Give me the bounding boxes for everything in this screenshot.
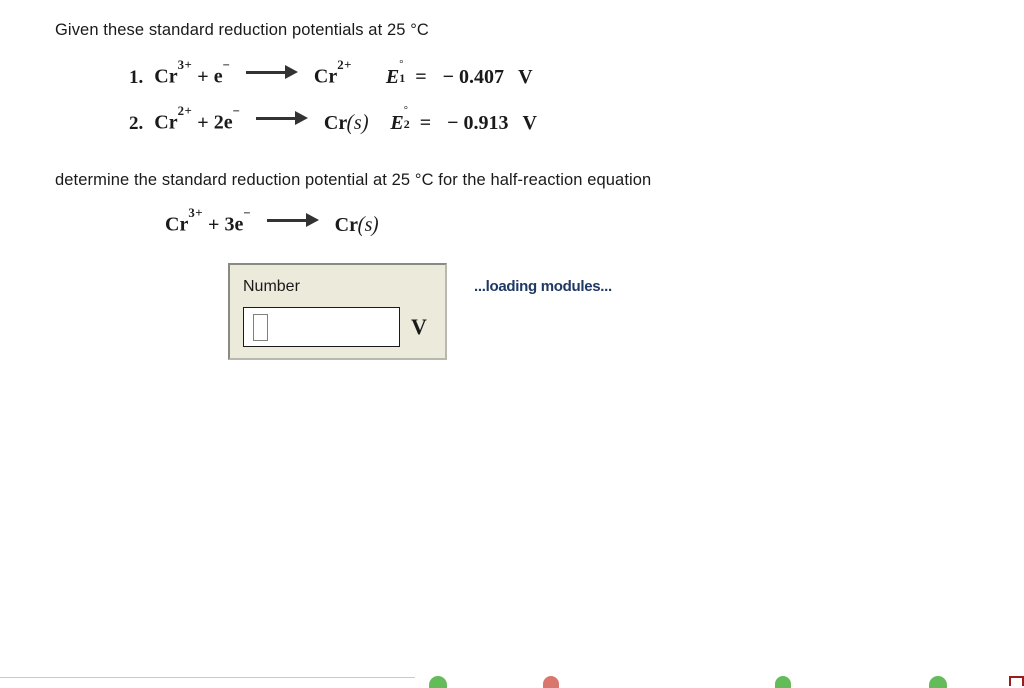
red-outline-icon[interactable]	[1009, 676, 1024, 686]
potential-index: 1	[399, 71, 405, 86]
degree-superscript: °	[399, 59, 403, 70]
product-species: Cr(s)	[335, 214, 379, 237]
potential-unit: V	[523, 112, 537, 135]
intro-text: Given these standard reduction potential…	[55, 21, 429, 40]
electron-term: 2e−	[214, 110, 240, 135]
reactant-symbol: Cr	[154, 66, 177, 88]
product-charge: 2+	[337, 58, 352, 72]
determine-text: determine the standard reduction potenti…	[55, 171, 651, 190]
product-species: Cr(s)	[324, 112, 368, 135]
reactant-symbol: Cr	[154, 112, 177, 134]
math-entry-cursor-box[interactable]	[253, 314, 268, 341]
electron-count: 3e	[224, 214, 243, 236]
product-symbol: Cr	[324, 112, 347, 134]
right-arrow-icon	[246, 65, 298, 79]
answer-number-input[interactable]	[243, 307, 400, 347]
reactant-charge: 3+	[188, 206, 203, 220]
reactant-species: Cr3+	[154, 64, 192, 89]
plus-operator: +	[208, 214, 219, 237]
red-marker-icon[interactable]	[543, 676, 559, 688]
potential-symbol: E°1	[386, 66, 399, 89]
reduction-equation-1: 1. Cr3+ + e− Cr2+ E°1 = − 0.407 V	[129, 64, 533, 89]
plus-operator: +	[197, 112, 208, 135]
answer-unit-label: V	[411, 314, 427, 340]
product-symbol: Cr	[335, 214, 358, 236]
plus-operator: +	[197, 66, 208, 89]
green-marker-icon[interactable]	[775, 676, 791, 688]
potential-letter: E	[386, 66, 399, 88]
reactant-charge: 3+	[178, 58, 193, 72]
answer-panel: Number V	[228, 263, 447, 360]
degree-superscript: °	[404, 105, 408, 116]
potential-value: − 0.913	[447, 112, 508, 135]
green-marker-icon[interactable]	[929, 676, 947, 688]
potential-unit: V	[518, 66, 532, 89]
electron-charge: −	[243, 206, 250, 220]
electron-charge: −	[233, 104, 240, 118]
equation-number: 1.	[129, 67, 143, 89]
equation-number: 2.	[129, 113, 143, 135]
right-arrow-icon	[256, 111, 308, 125]
electron-count: 2e	[214, 112, 233, 134]
potential-equals: =	[415, 66, 426, 89]
reactant-symbol: Cr	[165, 214, 188, 236]
target-half-reaction: Cr3+ + 3e− Cr(s)	[165, 212, 379, 237]
right-arrow-icon	[267, 213, 319, 227]
reduction-equation-2: 2. Cr2+ + 2e− Cr(s) E°2 = − 0.913 V	[129, 110, 537, 135]
green-marker-icon[interactable]	[429, 676, 447, 688]
potential-value: − 0.407	[443, 66, 504, 89]
product-species: Cr2+	[314, 64, 352, 89]
reactant-species: Cr2+	[154, 110, 192, 135]
bottom-divider	[0, 677, 415, 678]
product-symbol: Cr	[314, 66, 337, 88]
potential-letter: E	[390, 112, 403, 134]
potential-index: 2	[404, 117, 410, 132]
electron-term: e−	[214, 64, 230, 89]
potential-symbol: E°2	[390, 112, 403, 135]
answer-field-label: Number	[243, 278, 300, 296]
electron-count: e	[214, 66, 223, 88]
electron-term: 3e−	[224, 212, 250, 237]
electron-charge: −	[223, 58, 230, 72]
reactant-species: Cr3+	[165, 212, 203, 237]
potential-equals: =	[420, 112, 431, 135]
loading-status-text: ...loading modules...	[474, 278, 612, 295]
reactant-charge: 2+	[178, 104, 193, 118]
